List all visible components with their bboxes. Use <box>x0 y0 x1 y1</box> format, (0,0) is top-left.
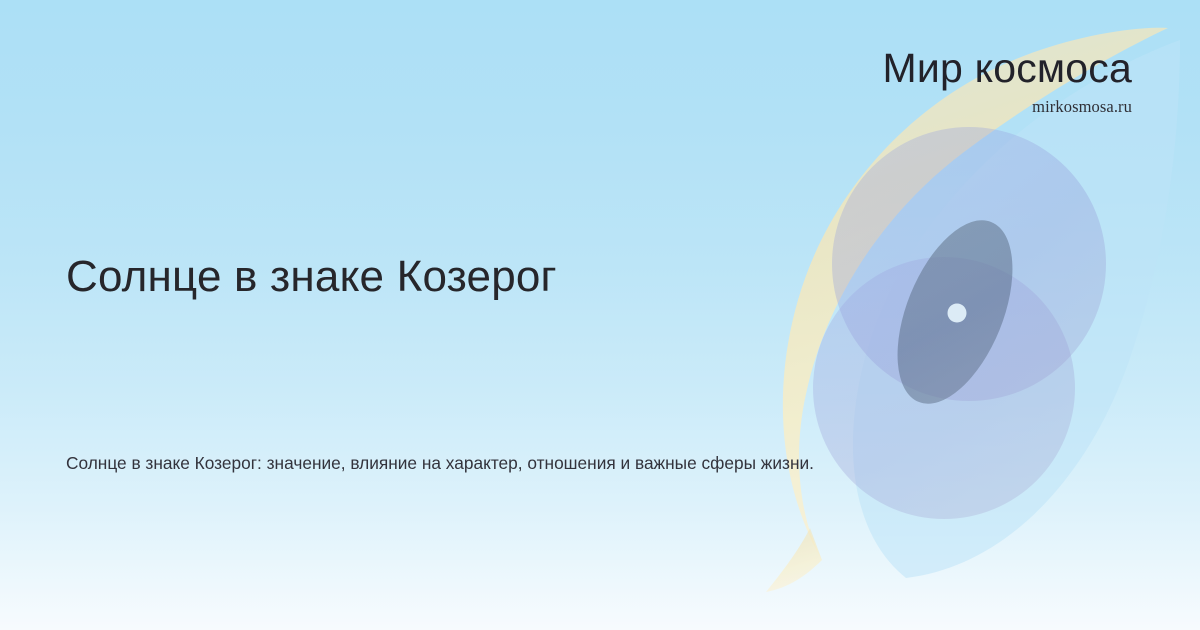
share-card: Мир космоса mirkosmosa.ru Солнце в знаке… <box>0 0 1200 630</box>
crescent-inner-cut <box>853 40 1180 578</box>
logo-domain: mirkosmosa.ru <box>883 99 1132 116</box>
page-title: Солнце в знаке Козерог <box>66 252 557 303</box>
center-white-dot <box>948 304 967 323</box>
site-logo[interactable]: Мир космоса mirkosmosa.ru <box>883 48 1132 116</box>
lower-translucent-circle <box>813 257 1075 519</box>
logo-title: Мир космоса <box>883 48 1132 89</box>
page-description: Солнце в знаке Козерог: значение, влияни… <box>66 447 996 479</box>
tilted-core-ellipse <box>874 204 1036 420</box>
upper-translucent-circle <box>832 127 1106 401</box>
